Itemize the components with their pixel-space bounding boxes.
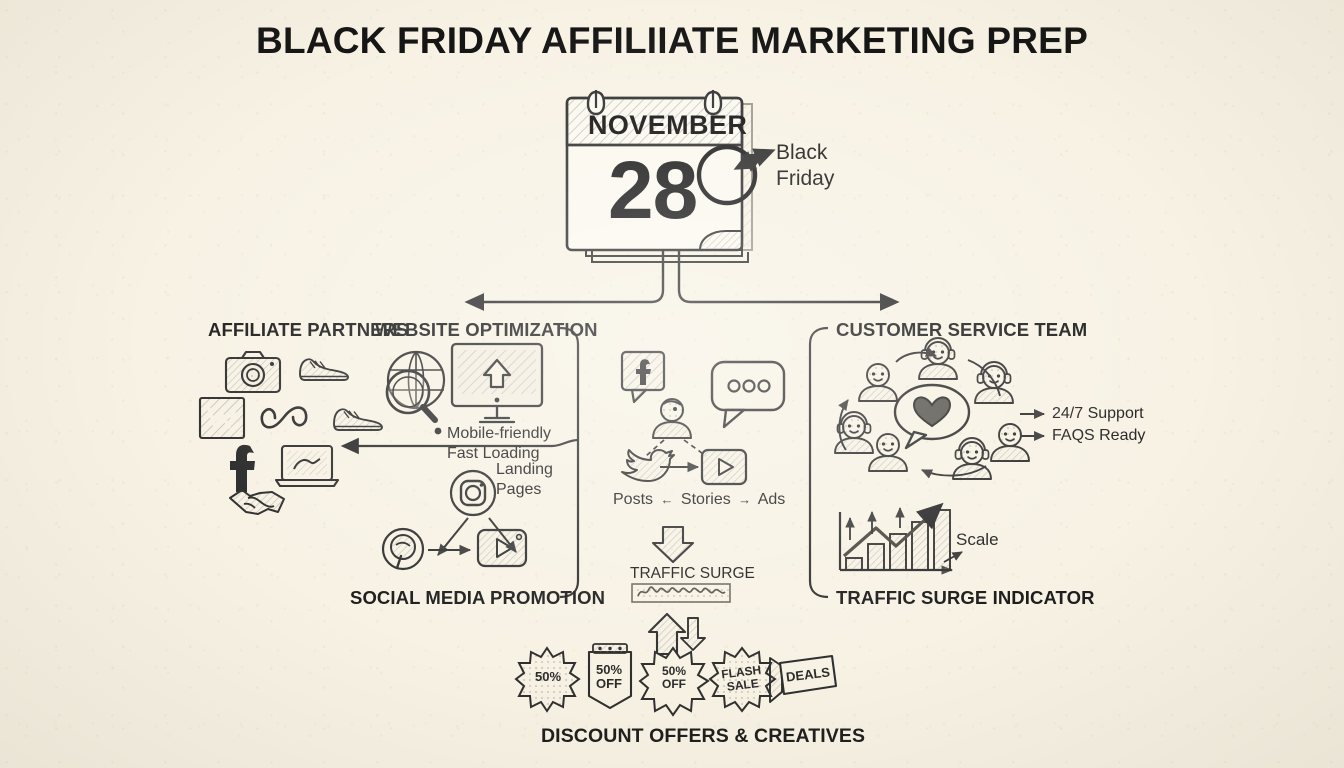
bullet-dot-icon xyxy=(435,428,442,435)
black-friday-annotation: Black Friday xyxy=(776,140,834,191)
badge-0-line1: 50% xyxy=(524,670,572,684)
calendar-day: 28 xyxy=(608,150,697,232)
badge-2-line2: OFF xyxy=(652,678,696,691)
avatar xyxy=(869,434,907,471)
badge-label-1: 50% OFF xyxy=(591,663,627,690)
section-label-website-optimization: WEBSITE OPTIMIZATION xyxy=(375,319,598,341)
laptop-icon xyxy=(276,446,338,486)
avatar xyxy=(919,338,957,379)
pinterest-icon xyxy=(383,529,423,569)
arrow-up-icon xyxy=(649,614,705,654)
note-mobile-friendly: Mobile-friendly Fast Loading xyxy=(447,424,551,464)
calendar-month: NOVEMBER xyxy=(588,110,747,141)
label-traffic-surge: TRAFFIC SURGE xyxy=(630,565,755,583)
section-label-traffic-surge-indicator: TRAFFIC SURGE INDICATOR xyxy=(836,587,1095,609)
website-optimization-icons xyxy=(387,344,542,434)
callout-24-7-support: 24/7 Support xyxy=(1052,404,1144,424)
badge-label-0: 50% xyxy=(524,670,572,684)
handshake-icon xyxy=(230,490,284,514)
video-play-icon xyxy=(702,450,746,484)
main-connectors xyxy=(468,250,896,302)
flow-arrow-right-icon: → xyxy=(735,492,754,507)
affiliate-partners-icons xyxy=(200,352,382,514)
camera-icon xyxy=(226,352,280,392)
section-label-discount-offers: DISCOUNT OFFERS & CREATIVES xyxy=(541,725,865,748)
content-flow-icons xyxy=(622,352,784,484)
content-flow-legend: Posts ← Stories → Ads xyxy=(613,490,785,510)
instagram-icon xyxy=(451,471,495,515)
globe-magnifier-icon xyxy=(387,352,444,420)
person-avatar-icon xyxy=(653,399,691,438)
traffic-surge-center xyxy=(632,527,730,654)
black-friday-line-1: Black xyxy=(776,140,834,166)
flow-stories: Stories xyxy=(681,491,731,508)
label-scale: Scale xyxy=(956,529,999,550)
chat-dots-bubble-icon xyxy=(712,362,784,427)
flow-ads: Ads xyxy=(758,491,786,508)
infographic-canvas: BLACK FRIDAY AFFILIIATE MARKETING PREP xyxy=(0,0,1344,768)
section-label-customer-service-team: CUSTOMER SERVICE TEAM xyxy=(836,319,1087,341)
avatar xyxy=(859,364,897,401)
note-landing-pages-line-2: Pages xyxy=(496,480,553,500)
callout-faqs-ready: FAQS Ready xyxy=(1052,426,1145,446)
note-landing-pages: Landing Pages xyxy=(496,460,553,500)
heart-speech-bubble-icon xyxy=(895,385,969,448)
facebook-bubble-icon xyxy=(622,352,664,402)
note-mobile-friendly-line-1: Mobile-friendly xyxy=(447,424,551,444)
facebook-f-icon xyxy=(230,445,255,492)
w-logo-icon xyxy=(200,398,244,438)
desktop-monitor-upload-icon xyxy=(452,344,542,422)
sneaker-icon xyxy=(300,359,348,380)
infinity-icon xyxy=(262,408,306,428)
section-label-social-media-promotion: SOCIAL MEDIA PROMOTION xyxy=(350,587,605,609)
sneaker-icon xyxy=(334,409,382,430)
scribble-box xyxy=(632,584,730,602)
badge-1-line2: OFF xyxy=(591,677,627,691)
black-friday-line-2: Friday xyxy=(776,166,834,192)
arrow-down-icon xyxy=(653,527,693,562)
avatar xyxy=(991,424,1029,461)
customer-service-team-icons xyxy=(835,338,1044,479)
flow-arrow-left-icon: ← xyxy=(657,492,676,507)
bar-chart-up-arrow-icon xyxy=(840,506,962,570)
badge-1-line1: 50% xyxy=(591,663,627,677)
right-bracket xyxy=(810,328,828,597)
badge-2-line1: 50% xyxy=(652,665,696,678)
note-landing-pages-line-1: Landing xyxy=(496,460,553,480)
flow-posts: Posts xyxy=(613,491,653,508)
badge-label-2: 50% OFF xyxy=(652,665,696,690)
